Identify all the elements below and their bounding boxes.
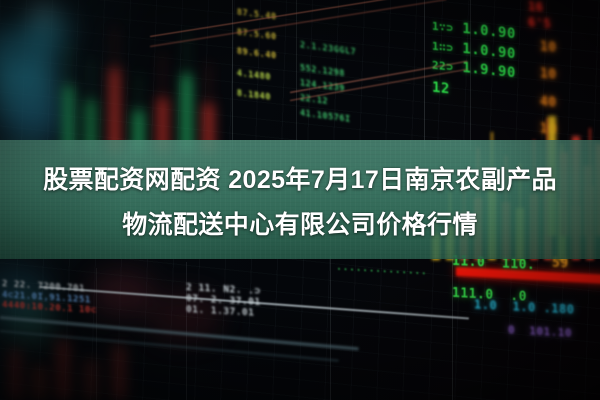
headline-line-2: 物流配送中心有限公司价格行情 <box>12 203 588 248</box>
banner-image: 87.5.40 87.5.60 89.6.40 4.1480 8.1840 2.… <box>0 0 600 400</box>
headline-line-1: 股票配资网配资 2025年7月17日南京农副产品 <box>12 158 588 203</box>
page-title: 股票配资网配资 2025年7月17日南京农副产品 物流配送中心有限公司价格行情 <box>0 158 600 248</box>
